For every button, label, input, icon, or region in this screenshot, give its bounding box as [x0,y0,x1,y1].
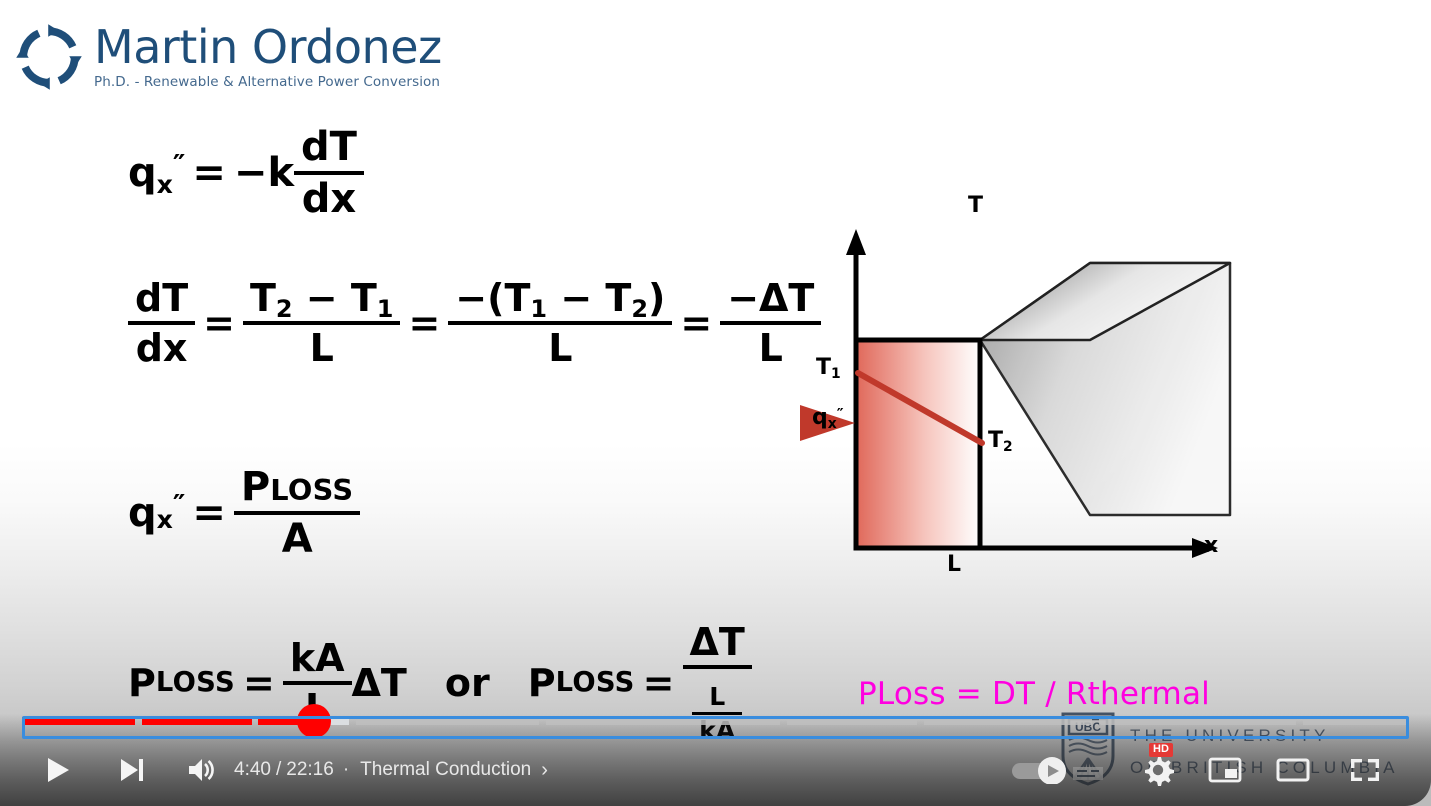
presenter-name: Martin Ordonez [94,24,442,70]
progress-played [22,717,135,725]
eq2-f3-T2-sub: 2 [631,295,648,323]
eq2-f3-T1-sub: 1 [530,295,547,323]
eq3-equals: = [184,490,234,536]
current-time: 4:40 [234,759,271,781]
eq4-or: or [407,661,528,705]
eq2-equals-1: = [195,301,243,345]
chapter-title[interactable]: Thermal Conduction [360,759,531,781]
eq4-equals: = [235,661,283,705]
eq2-f2-T: T [250,276,276,320]
volume-button[interactable] [174,742,230,798]
fullscreen-button[interactable] [1337,742,1393,798]
eq2-f3-close: ) [648,276,665,320]
diagram-flux-q: q [812,405,828,430]
eq2-f1-num: dT [128,276,195,321]
eq3-q-sub: x [157,505,173,534]
progress-chapter-segment[interactable] [546,717,780,725]
eq1-fraction: dT dx [294,124,364,222]
eq4-P: P [128,661,156,705]
eq1-prime: ″ [173,148,185,181]
eq1-denominator: dx [295,175,363,222]
progress-chapter-segment[interactable] [1099,717,1296,725]
eq4-equals-2: = [635,661,683,705]
eq3-P-sub: LOSS [270,473,353,507]
progress-played [142,717,252,725]
eq2-f1-den: dx [129,325,195,370]
diagram-axis-y-label: T [968,193,983,218]
equation-flux-power: qx″ = PLOSS A [128,464,360,562]
eq2-equals-2: = [400,301,448,345]
eq2-fraction-3: −(T1 − T2) L [448,276,672,370]
eq3-fraction: PLOSS A [234,464,361,562]
eq1-q-sub: x [157,170,173,199]
eq1-q: q [128,150,157,196]
eq2-f2-minus: − [306,276,338,320]
eq4-P2: P [528,661,556,705]
eq2-f2-den: L [303,325,341,370]
eq2-f2-T2-sub: 1 [377,295,394,323]
eq3-num: PLOSS [234,464,361,511]
eq4-delta-T: ΔT [352,661,407,705]
miniplayer-button[interactable] [1197,742,1253,798]
equation-temperature-gradient: dT dx = T2 − T1 L = −(T1 − T2) L = −ΔT L [128,276,821,370]
eq4-num: kA [283,636,352,681]
circular-arrows-icon [10,18,88,96]
diagram-t1-label: T1 [816,355,841,380]
progress-chapter-segment[interactable] [142,717,252,725]
thermal-conduction-diagram: T x L T1 T2 [800,195,1240,585]
presenter-tagline: Ph.D. - Renewable & Alternative Power Co… [94,74,442,90]
autoplay-toggle[interactable] [1001,742,1081,798]
equation-fourier-law: qx″ = −k dT dx [128,124,364,222]
diagram-flux-sub: x [828,416,837,432]
eq4-inner-num: L [702,682,732,712]
player-control-bar[interactable]: 4:40 / 22:16 · Thermal Conduction › [0,714,1431,806]
diagram-axis-x-label: x [1204,533,1218,558]
play-button[interactable] [30,742,86,798]
eq3-q: q [128,490,157,536]
diagram-t2-letter: T [988,428,1003,453]
progress-chapter-segment[interactable] [356,717,539,725]
chapter-chevron-icon[interactable]: › [541,759,548,782]
eq4-P2-sub: LOSS [556,667,635,698]
diagram-t2-label: T2 [988,428,1013,453]
duration: 22:16 [286,759,334,781]
eq1-equals: = [184,150,234,196]
theater-mode-button[interactable] [1265,742,1321,798]
eq2-fraction-2: T2 − T1 L [243,276,400,370]
eq2-equals-3: = [672,301,720,345]
diagram-t1-sub: 1 [831,366,841,382]
progress-chapter-segment[interactable] [22,717,135,725]
time-bullet: · [343,759,349,781]
eq3-den: A [275,515,320,562]
time-separator: / [276,759,281,781]
eq2-f2-T-sub: 2 [276,295,293,323]
eq2-fraction-1: dT dx [128,276,195,370]
eq2-f3-T1: T [505,276,531,320]
eq2-f3-den: L [541,325,579,370]
hd-quality-badge: HD [1149,743,1173,757]
diagram-t2-sub: 2 [1003,439,1013,455]
eq3-prime: ″ [173,488,185,521]
eq2-f2-T2: T [351,276,377,320]
diagram-length-label: L [947,552,961,577]
settings-gear-button[interactable]: HD [1127,742,1189,798]
progress-scrubber[interactable] [297,704,331,738]
presenter-logo: Martin Ordonez Ph.D. - Renewable & Alter… [10,18,442,96]
progress-chapter-segment[interactable] [924,717,1092,725]
eq1-minus-k: −k [234,150,294,196]
handwritten-annotation: PLoss = DT / Rthermal [858,676,1210,712]
diagram-flux-label: qx″ [812,405,843,430]
eq2-f2-num: T2 − T1 [243,276,400,321]
eq3-P: P [241,464,270,510]
next-video-button[interactable] [104,742,160,798]
video-player[interactable]: Martin Ordonez Ph.D. - Renewable & Alter… [0,0,1431,806]
time-and-chapter-display[interactable]: 4:40 / 22:16 · Thermal Conduction › [234,742,548,798]
eq2-f3-minus: − [560,276,592,320]
eq1-numerator: dT [294,124,364,171]
progress-chapter-segment[interactable] [787,717,917,725]
diagram-t1-letter: T [816,355,831,380]
eq2-f3-T2: T [605,276,631,320]
eq4-num-2: ΔT [683,620,752,665]
progress-bar[interactable] [22,710,1409,730]
eq2-f4-den: L [752,325,790,370]
progress-chapter-segment[interactable] [1303,717,1409,725]
control-buttons-row: 4:40 / 22:16 · Thermal Conduction › [0,742,1431,798]
eq2-f3-num: −(T1 − T2) [448,276,672,321]
eq4-P-sub: LOSS [156,667,235,698]
eq2-f3-open: −( [455,276,504,320]
diagram-flux-prime: ″ [837,405,843,423]
